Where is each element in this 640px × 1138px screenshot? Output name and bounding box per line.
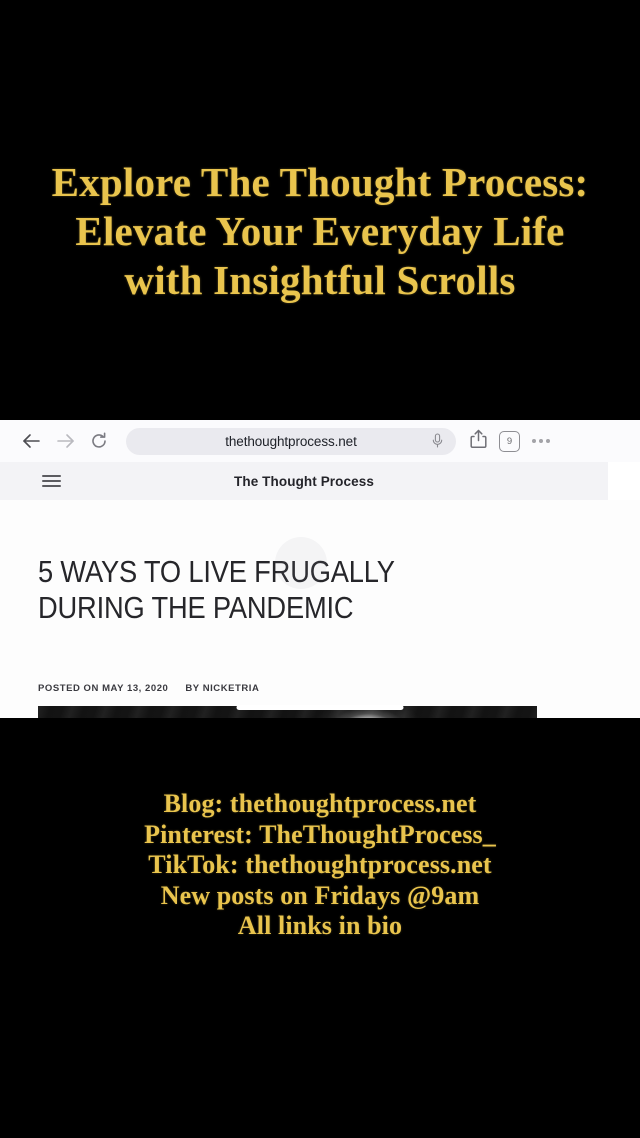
reload-button[interactable] [82,424,116,458]
top-headline: Explore The Thought Process: Elevate You… [0,158,640,305]
tab-count-button[interactable]: 9 [499,431,520,452]
info-line-tiktok: TikTok: thethoughtprocess.net [0,850,640,881]
forward-button[interactable] [48,424,82,458]
info-line-schedule: New posts on Fridays @9am [0,881,640,912]
arrow-right-icon [56,433,75,449]
back-button[interactable] [14,424,48,458]
microphone-icon[interactable] [432,432,446,450]
arrow-left-icon [22,433,41,449]
embedded-browser-screenshot: thethoughtprocess.net [0,420,640,718]
article-author: BY NICKETRIA [185,683,259,694]
url-bar[interactable]: thethoughtprocess.net [126,428,456,455]
home-indicator [237,705,404,710]
toolbar-right-actions: 9 [470,429,550,454]
more-dots-icon [532,439,536,443]
info-line-pinterest: Pinterest: TheThoughtProcess_ [0,820,640,851]
more-dots-icon [539,439,543,443]
share-icon [470,436,487,453]
info-line-blog: Blog: thethoughtprocess.net [0,789,640,820]
article-meta: POSTED ON MAY 13, 2020 BY NICKETRIA [38,683,259,694]
more-options-button[interactable] [532,439,550,443]
site-header: The Thought Process [0,462,608,500]
headline-line-1: Explore The Thought Process: [0,158,640,207]
page-content: 5 WAYS TO LIVE FRUGALLY DURING THE PANDE… [0,500,640,718]
tab-count-label: 9 [507,436,512,447]
more-dots-icon [546,439,550,443]
bottom-info-block: Blog: thethoughtprocess.net Pinterest: T… [0,789,640,942]
article-title: 5 WAYS TO LIVE FRUGALLY DURING THE PANDE… [38,554,452,626]
headline-line-2: Elevate Your Everyday Life [0,207,640,256]
headline-line-3: with Insightful Scrolls [0,256,640,305]
reload-icon [90,432,108,450]
article-posted-date: POSTED ON MAY 13, 2020 [38,683,168,694]
browser-toolbar: thethoughtprocess.net [0,420,640,462]
info-line-links: All links in bio [0,911,640,942]
url-text: thethoughtprocess.net [136,434,432,449]
site-title: The Thought Process [0,474,608,489]
hamburger-menu-icon[interactable] [42,475,61,487]
share-button[interactable] [470,429,487,454]
